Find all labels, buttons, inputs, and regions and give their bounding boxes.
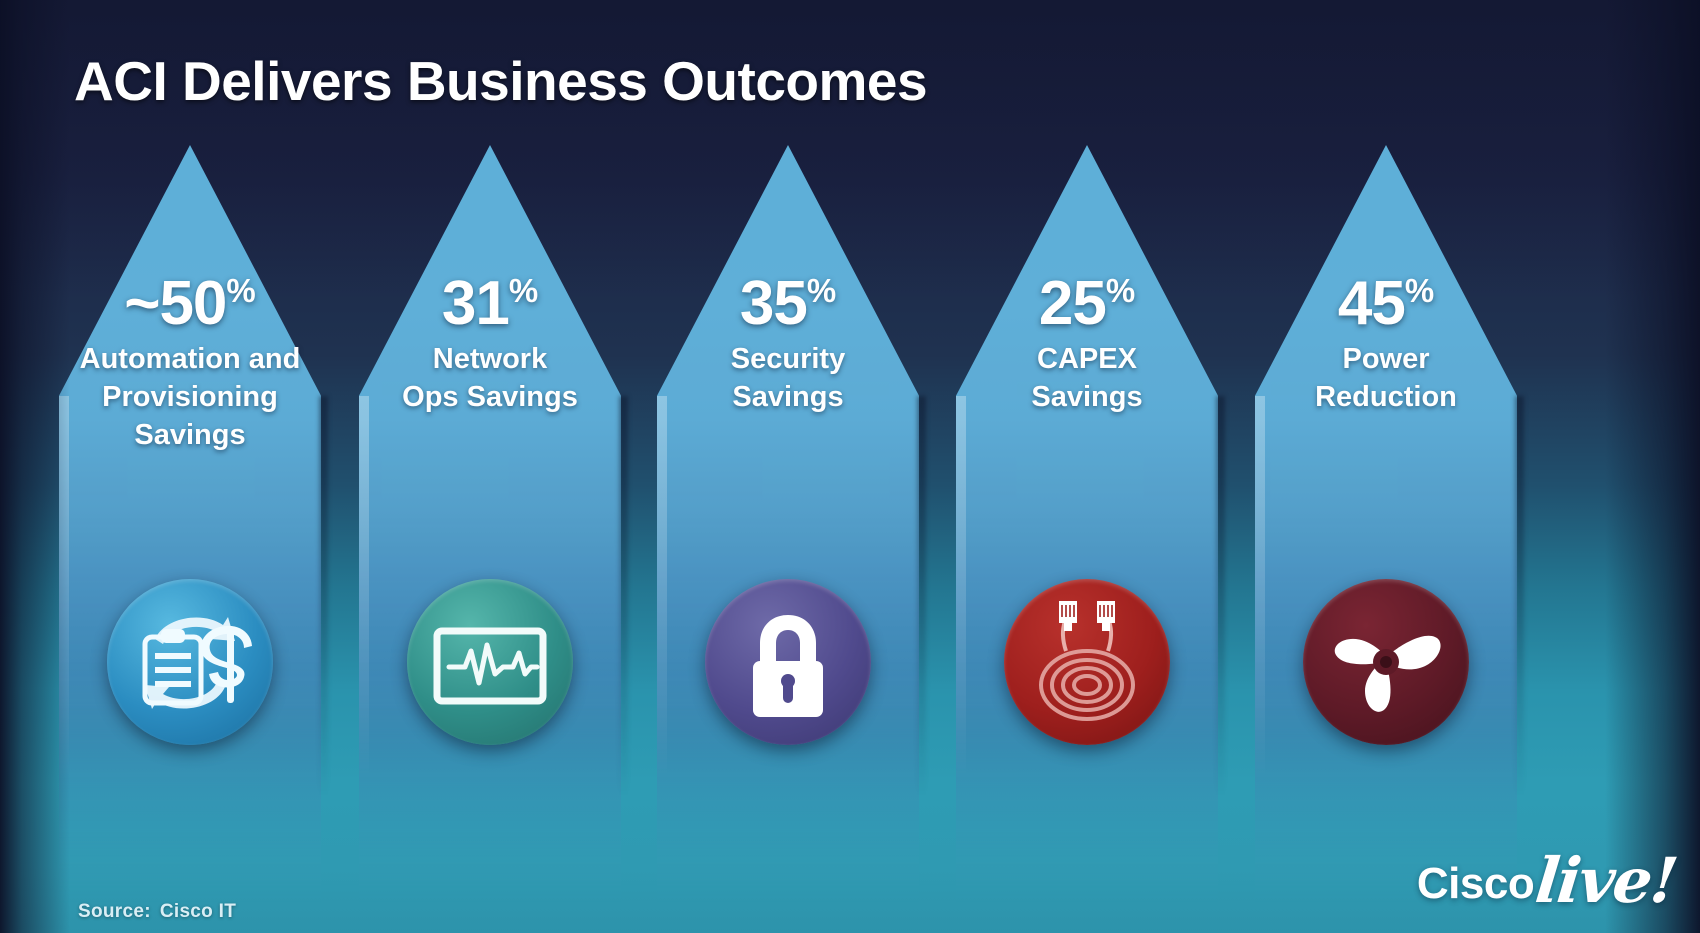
arrow-shape [657, 145, 919, 905]
padlock-icon [705, 579, 871, 745]
metric-value: 45% [1255, 273, 1517, 335]
metric-label-line1: Power [1255, 341, 1517, 379]
metric-label: Security Savings [657, 341, 919, 417]
logo-brand-text: Cisco [1417, 859, 1534, 909]
metric-label-line1: CAPEX [956, 341, 1218, 379]
metric-value: 31% [359, 273, 621, 335]
metric-icon-wrapper[interactable] [1303, 579, 1469, 745]
cisco-live-logo: Cisco live! [1417, 840, 1676, 914]
source-note: Source:Cisco IT [78, 901, 236, 923]
metric-number: 31 [442, 269, 509, 338]
arrow-shape [1255, 145, 1517, 905]
metrics-arrow-group: ~50% Automation and Provisioning Savings [0, 0, 1700, 933]
metric-label-line1: Automation and [59, 341, 321, 379]
source-label: Source: [78, 901, 151, 922]
coiled-ethernet-cable-icon [1004, 579, 1170, 745]
metric-value: 35% [657, 273, 919, 335]
arrow-shape [956, 145, 1218, 905]
metric-number: 45 [1338, 269, 1405, 338]
metric-label-line2: Ops Savings [359, 379, 621, 417]
metric-value: ~50% [59, 273, 321, 335]
logo-event-text: live! [1532, 844, 1679, 917]
metric-label-line1: Security [657, 341, 919, 379]
source-value: Cisco IT [160, 901, 236, 922]
metric-arrow-security[interactable]: 35% Security Savings [657, 145, 919, 905]
metric-text-block: 35% Security Savings [657, 273, 919, 417]
percent-symbol: % [1405, 272, 1434, 309]
metric-label-line2: Provisioning [59, 379, 321, 417]
metric-arrow-capex[interactable]: 25% CAPEX Savings [956, 145, 1218, 905]
metric-icon-wrapper[interactable] [1004, 579, 1170, 745]
metric-label-line2: Savings [657, 379, 919, 417]
percent-symbol: % [807, 272, 836, 309]
metric-number: 25 [1039, 269, 1106, 338]
slide-canvas: ACI Delivers Business Outcomes ~50% Auto… [0, 0, 1700, 933]
metric-label: Network Ops Savings [359, 341, 621, 417]
clipboard-dollar-refresh-icon [107, 579, 273, 745]
metric-label: Automation and Provisioning Savings [59, 341, 321, 455]
metric-icon-wrapper[interactable] [107, 579, 273, 745]
metric-value: 25% [956, 273, 1218, 335]
metric-label-line2: Savings [956, 379, 1218, 417]
metric-label-line2: Reduction [1255, 379, 1517, 417]
arrow-shape [359, 145, 621, 905]
cooling-fan-icon [1303, 579, 1469, 745]
metric-number: 35 [740, 269, 807, 338]
arrow-shape [59, 145, 321, 905]
metric-label-line1: Network [359, 341, 621, 379]
metric-icon-wrapper[interactable] [407, 579, 573, 745]
metric-icon-wrapper[interactable] [705, 579, 871, 745]
monitor-pulse-icon [407, 579, 573, 745]
metric-text-block: ~50% Automation and Provisioning Savings [59, 273, 321, 455]
metric-number: ~50 [124, 269, 226, 338]
metric-label: CAPEX Savings [956, 341, 1218, 417]
metric-text-block: 45% Power Reduction [1255, 273, 1517, 417]
metric-label-line3: Savings [59, 417, 321, 455]
metric-arrow-network-ops[interactable]: 31% Network Ops Savings [359, 145, 621, 905]
metric-arrow-automation[interactable]: ~50% Automation and Provisioning Savings [59, 145, 321, 905]
percent-symbol: % [1106, 272, 1135, 309]
metric-text-block: 31% Network Ops Savings [359, 273, 621, 417]
percent-symbol: % [226, 272, 255, 309]
metric-arrow-power[interactable]: 45% Power Reduction [1255, 145, 1517, 905]
percent-symbol: % [509, 272, 538, 309]
metric-label: Power Reduction [1255, 341, 1517, 417]
metric-text-block: 25% CAPEX Savings [956, 273, 1218, 417]
